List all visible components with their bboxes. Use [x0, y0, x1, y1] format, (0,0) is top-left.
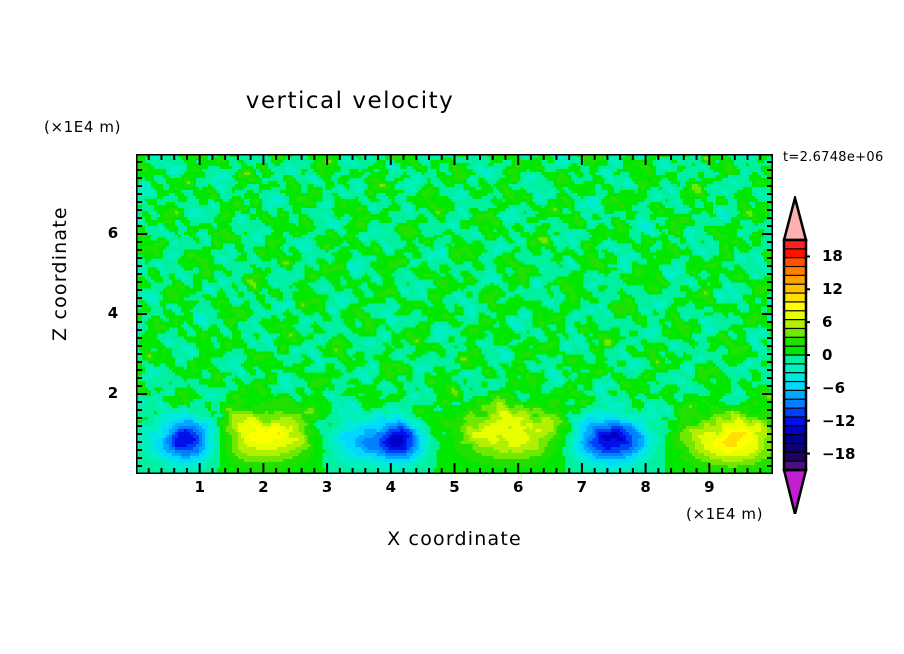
- contour-plot: [136, 154, 773, 474]
- x-tick-label: 5: [435, 478, 475, 496]
- x-tick-label: 1: [180, 478, 220, 496]
- plot-area: [136, 154, 773, 474]
- x-axis-title: X coordinate: [136, 528, 773, 550]
- colorbar-tick-label: −18: [822, 445, 855, 463]
- colorbar-tick-label: −12: [822, 412, 855, 430]
- figure-canvas: vertical velocity (×1E4 m) (×1E4 m) t=2.…: [0, 0, 904, 654]
- y-tick-label: 4: [96, 304, 130, 322]
- x-tick-label: 3: [307, 478, 347, 496]
- y-tick-label: 2: [96, 384, 130, 402]
- x-tick-label: 2: [243, 478, 283, 496]
- x-axis-unit-label: (×1E4 m): [686, 505, 763, 523]
- colorbar-tick-label: 6: [822, 313, 832, 331]
- y-tick-label: 6: [96, 224, 130, 242]
- x-tick-label: 6: [498, 478, 538, 496]
- colorbar: [780, 196, 810, 514]
- x-tick-label: 4: [371, 478, 411, 496]
- colorbar-tick-label: −6: [822, 379, 845, 397]
- colorbar-tick-labels: 181260−6−12−18: [812, 196, 882, 514]
- y-axis-tick-labels: 246: [96, 154, 130, 474]
- colorbar-tick-label: 18: [822, 247, 843, 265]
- colorbar-gradient: [780, 196, 810, 514]
- x-tick-label: 9: [689, 478, 729, 496]
- timestamp-annotation: t=2.6748e+06: [783, 150, 884, 165]
- colorbar-tick-label: 0: [822, 346, 832, 364]
- x-axis-tick-labels: 123456789: [136, 478, 773, 502]
- colorbar-tick-label: 12: [822, 280, 843, 298]
- page-title: vertical velocity: [0, 88, 700, 114]
- x-tick-label: 8: [626, 478, 666, 496]
- y-axis-unit-label: (×1E4 m): [44, 118, 121, 136]
- x-tick-label: 7: [562, 478, 602, 496]
- y-axis-title-text: Z coordinate: [49, 221, 71, 341]
